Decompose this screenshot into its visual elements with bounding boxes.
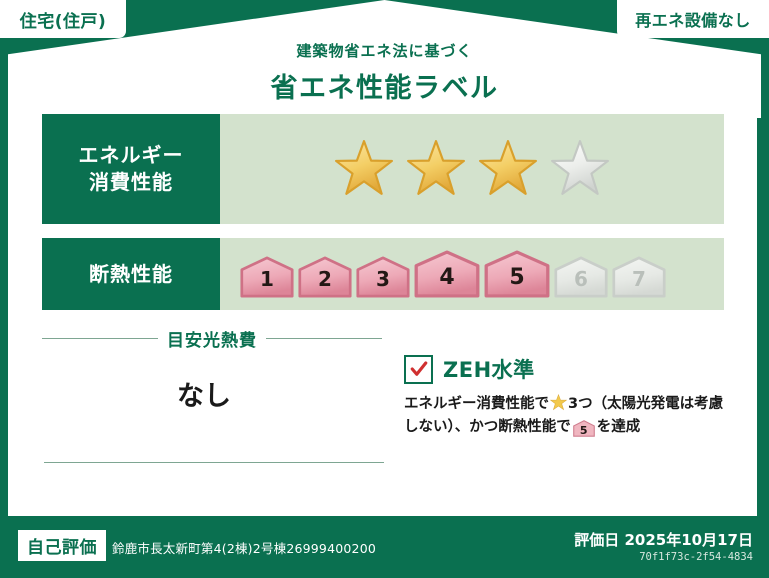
- check-icon: [410, 360, 428, 378]
- insulation-level-badge: 5: [484, 250, 550, 298]
- insulation-badge-inline: 5: [573, 420, 595, 437]
- lower-section: 目安光熱費 なし ZEH水準 エネルギー消費性能で3つ（太陽光発電は考慮しない）…: [8, 326, 757, 516]
- insulation-level-value: 2: [318, 267, 332, 298]
- energy-performance-row: エネルギー 消費性能: [42, 114, 724, 224]
- insulation-level-value: 5: [509, 265, 524, 298]
- zeh-checkbox[interactable]: [404, 355, 433, 384]
- insulation-level-badge: 2: [298, 256, 352, 298]
- property-address: 鈴鹿市長太新町第4(2棟)2号棟26999400200: [112, 538, 376, 557]
- star-icon-inline: [550, 394, 567, 411]
- insulation-level-value: 4: [439, 265, 454, 298]
- star-icon-filled: [477, 138, 539, 200]
- renewable-energy-tag: 再エネ設備なし: [617, 0, 769, 38]
- insulation-level-badge: 3: [356, 256, 410, 298]
- building-type-tag: 住宅(住戸): [0, 0, 126, 38]
- insulation-badges-area: 1234567: [220, 238, 724, 310]
- star-rating: [333, 138, 611, 200]
- insulation-level-value: 7: [632, 267, 646, 298]
- energy-cost-divider: [44, 462, 384, 463]
- insulation-level-value: 1: [260, 267, 274, 298]
- building-type-label: 住宅(住戸): [20, 7, 107, 32]
- insulation-level-badge: 1: [240, 256, 294, 298]
- insulation-badge-inline-value: 5: [573, 420, 595, 442]
- zeh-desc-part1: エネルギー消費性能で: [404, 396, 549, 412]
- star-icon-empty: [549, 138, 611, 200]
- insulation-level-value: 3: [376, 267, 390, 298]
- insulation-level-badge: 6: [554, 256, 608, 298]
- energy-cost-heading: 目安光熱費: [42, 326, 382, 351]
- zeh-desc-part3: を達成: [597, 419, 641, 435]
- insulation-label-text: 断熱性能: [89, 261, 173, 288]
- insulation-level-value: 6: [574, 267, 588, 298]
- energy-performance-label: エネルギー 消費性能: [42, 114, 220, 224]
- evaluation-id: 70f1f73c-2f54-4834: [639, 551, 753, 563]
- insulation-level-badge: 4: [414, 250, 480, 298]
- zeh-block: ZEH水準 エネルギー消費性能で3つ（太陽光発電は考慮しない）、かつ断熱性能で5…: [400, 326, 757, 516]
- insulation-level-badge: 7: [612, 256, 666, 298]
- star-icon-filled: [333, 138, 395, 200]
- star-icon-filled: [405, 138, 467, 200]
- energy-cost-block: 目安光熱費 なし: [8, 326, 400, 516]
- energy-stars-area: [220, 114, 724, 224]
- energy-cost-value: なし: [8, 374, 400, 413]
- evaluation-date: 評価日 2025年10月17日: [574, 529, 753, 550]
- zeh-heading: ZEH水準: [404, 354, 757, 384]
- insulation-performance-label: 断熱性能: [42, 238, 220, 310]
- zeh-description: エネルギー消費性能で3つ（太陽光発電は考慮しない）、かつ断熱性能で5を達成: [404, 393, 726, 440]
- heading-rule-right: [266, 338, 382, 339]
- renewable-energy-label: 再エネ設備なし: [635, 7, 751, 31]
- insulation-rating-scale: 1234567: [240, 250, 666, 298]
- energy-label-line1: エネルギー: [79, 142, 184, 169]
- self-evaluation-badge: 自己評価: [18, 530, 106, 561]
- zeh-title: ZEH水準: [443, 354, 535, 384]
- heading-rule-left: [42, 338, 158, 339]
- insulation-performance-row: 断熱性能 1234567: [42, 238, 724, 310]
- energy-cost-title: 目安光熱費: [167, 326, 257, 351]
- energy-label-line2: 消費性能: [89, 169, 173, 196]
- footer-bar: 自己評価 鈴鹿市長太新町第4(2棟)2号棟26999400200 評価日 202…: [0, 518, 769, 578]
- label-card: エネルギー 消費性能 断熱性能 1234567 目安光熱費 なし: [8, 98, 757, 516]
